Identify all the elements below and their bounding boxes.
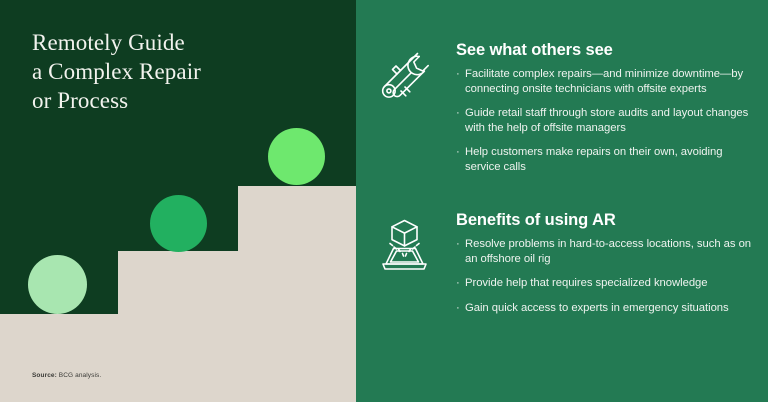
list-item-text: Provide help that requires specialized k… [465,277,708,289]
circle-bright-green [268,128,325,185]
source-text: BCG analysis. [57,372,101,379]
list-item: ·Help customers make repairs on their ow… [456,145,754,174]
bullet-dot-icon: · [456,67,460,82]
staircase-step-middle [118,251,238,402]
circle-medium-green [150,195,207,252]
section-body: Benefits of using AR ·Resolve problems i… [456,210,754,315]
bullet-list: ·Resolve problems in hard-to-access loca… [456,237,754,315]
bullet-dot-icon: · [456,237,460,252]
source-attribution: Source: BCG analysis. [32,371,101,380]
circle-light-green [28,255,87,314]
bullet-dot-icon: · [456,145,460,160]
section-body: See what others see ·Facilitate complex … [456,40,754,175]
page-title: Remotely Guide a Complex Repair or Proce… [32,28,332,115]
list-item-text: Gain quick access to experts in emergenc… [465,302,729,314]
left-panel: Remotely Guide a Complex Repair or Proce… [0,0,356,402]
source-label: Source: [32,372,57,379]
list-item: ·Facilitate complex repairs—and minimize… [456,67,754,96]
section-heading: Benefits of using AR [456,210,754,230]
ar-cube-projection-icon [372,214,436,278]
list-item-text: Help customers make repairs on their own… [465,146,722,173]
slide-canvas: Remotely Guide a Complex Repair or Proce… [0,0,768,402]
staircase-step-upper [238,186,356,402]
bullet-list: ·Facilitate complex repairs—and minimize… [456,67,754,175]
list-item-text: Facilitate complex repairs—and minimize … [465,68,743,95]
list-item: ·Resolve problems in hard-to-access loca… [456,237,754,266]
staircase-step-lower [0,314,118,402]
list-item: ·Provide help that requires specialized … [456,276,754,291]
right-panel: See what others see ·Facilitate complex … [356,0,768,402]
wrench-screwdriver-icon [372,44,436,108]
bullet-dot-icon: · [456,276,460,291]
list-item-text: Guide retail staff through store audits … [465,107,748,134]
list-item: ·Gain quick access to experts in emergen… [456,301,754,316]
list-item-text: Resolve problems in hard-to-access locat… [465,238,751,265]
section-heading: See what others see [456,40,754,60]
bullet-dot-icon: · [456,106,460,121]
list-item: ·Guide retail staff through store audits… [456,106,754,135]
bullet-dot-icon: · [456,301,460,316]
